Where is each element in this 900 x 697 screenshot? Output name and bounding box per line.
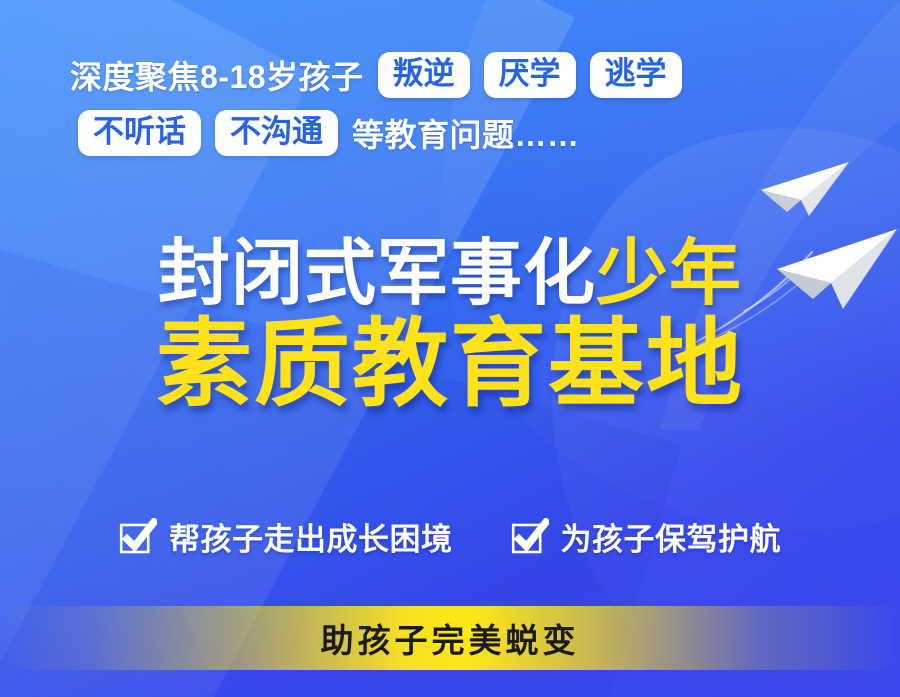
tagline-lead-text: 深度聚焦8-18岁孩子 <box>70 52 364 98</box>
headline-line-1: 封闭式军事化少年 <box>0 238 900 311</box>
headline-line-2: 素质教育基地 <box>0 317 900 413</box>
benefit-item: 为孩子保驾护航 <box>511 514 782 559</box>
tagline-row-2: 不听话 不沟通 等教育问题…… <box>60 110 840 156</box>
tag-chip-school-aversion[interactable]: 厌学 <box>484 52 576 98</box>
tag-chip-rebellion[interactable]: 叛逆 <box>378 52 470 98</box>
benefits-row: 帮孩子走出成长困境 为孩子保驾护航 <box>0 514 900 559</box>
tag-chip-truancy[interactable]: 逃学 <box>590 52 682 98</box>
paper-plane-icon <box>757 160 853 231</box>
bottom-strip-text: 助孩子完美蜕变 <box>321 614 580 662</box>
check-square-icon <box>511 518 549 556</box>
check-square-icon <box>119 518 157 556</box>
headline-line-1-accent: 少年 <box>596 234 742 314</box>
tagline-block: 深度聚焦8-18岁孩子 叛逆 厌学 逃学 不听话 不沟通 等教育问题…… <box>0 52 900 168</box>
tag-chip-disobedient[interactable]: 不听话 <box>78 110 201 156</box>
tagline-trailing-text: 等教育问题…… <box>352 110 580 156</box>
benefit-item: 帮孩子走出成长困境 <box>119 514 453 559</box>
headline-block: 封闭式军事化少年 素质教育基地 <box>0 238 900 413</box>
promo-banner: 深度聚焦8-18岁孩子 叛逆 厌学 逃学 不听话 不沟通 等教育问题…… 封闭式… <box>0 0 900 697</box>
tag-chip-no-communication[interactable]: 不沟通 <box>215 110 338 156</box>
bottom-highlight-strip: 助孩子完美蜕变 <box>0 606 900 670</box>
benefit-label: 帮孩子走出成长困境 <box>169 514 453 559</box>
headline-line-1-white: 封闭式军事化 <box>158 234 596 314</box>
benefit-label: 为孩子保驾护航 <box>561 514 782 559</box>
tagline-row-1: 深度聚焦8-18岁孩子 叛逆 厌学 逃学 <box>60 52 840 98</box>
